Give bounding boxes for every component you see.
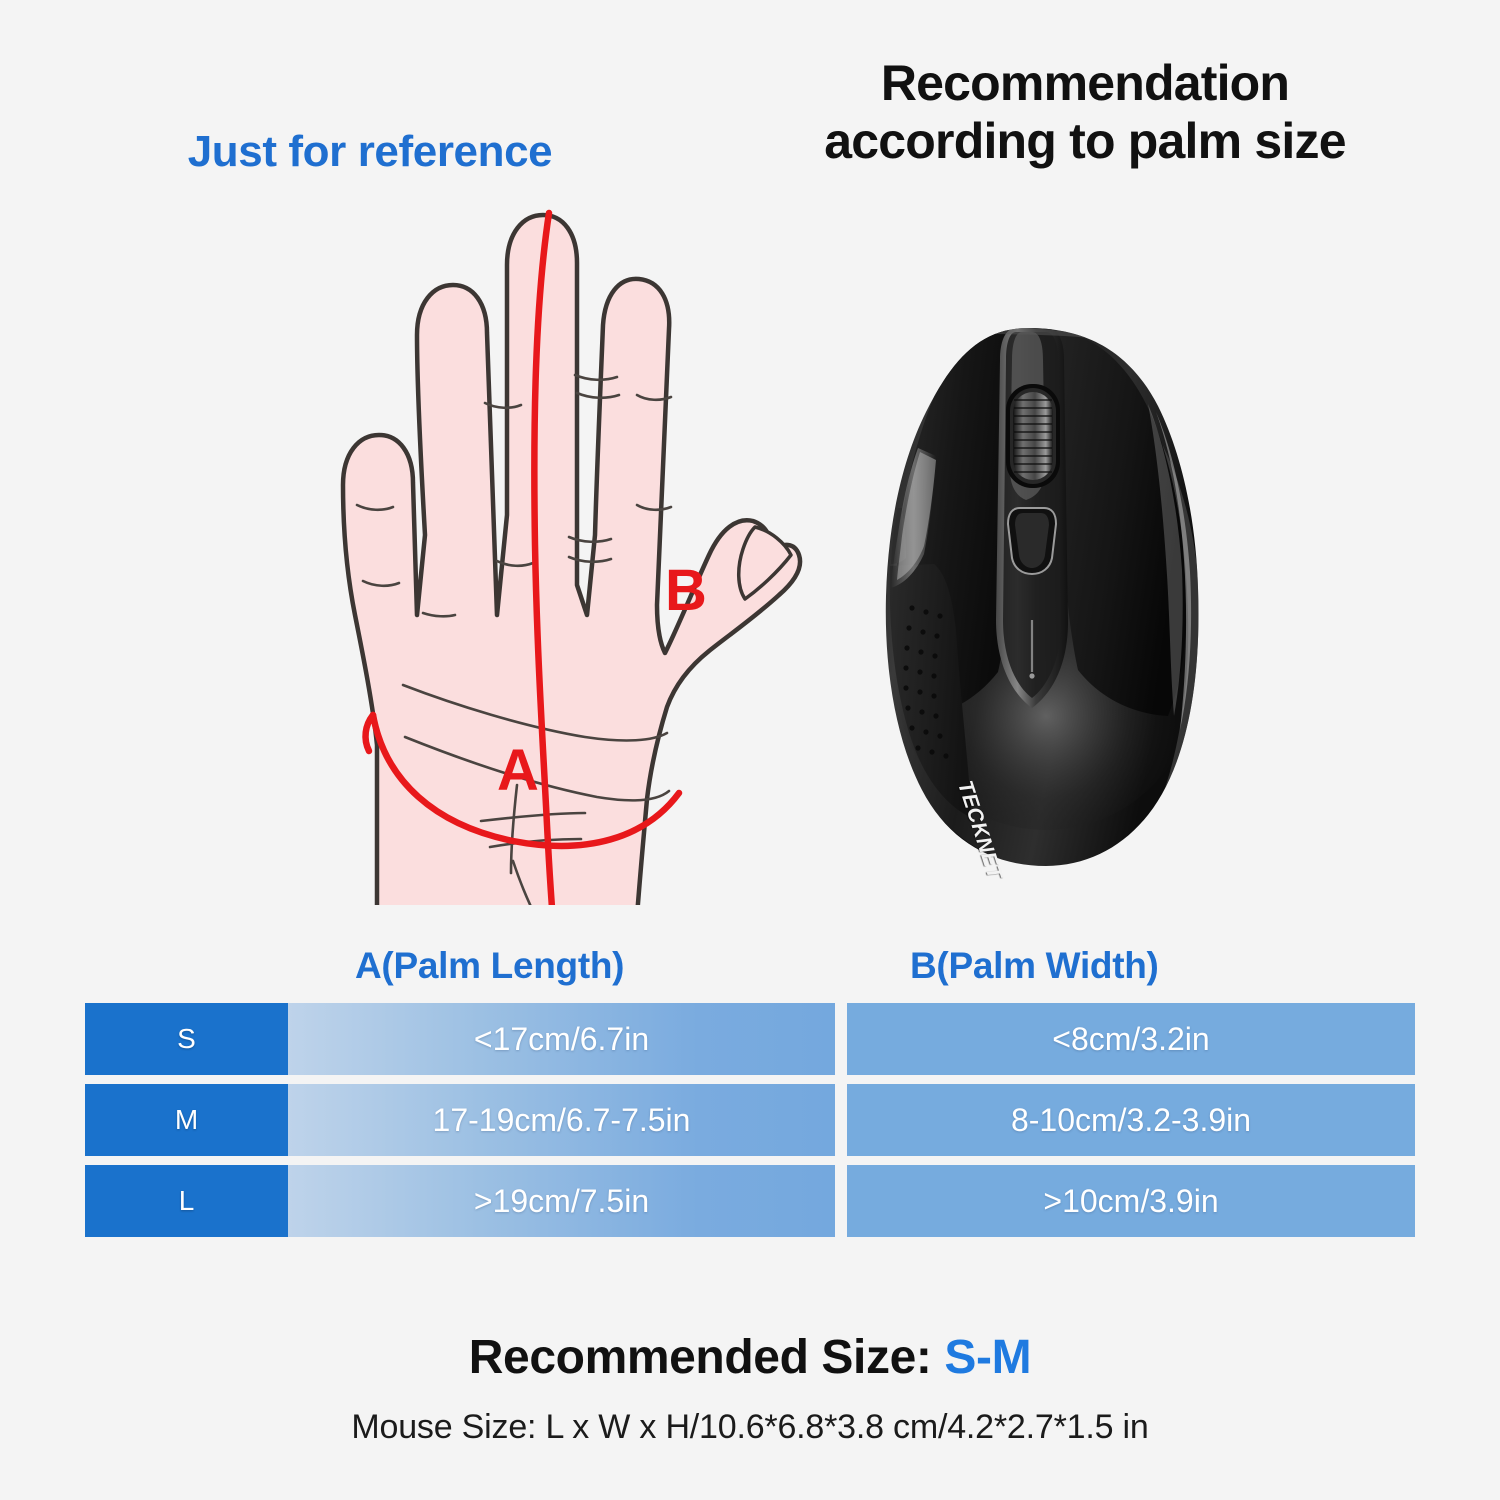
palm-length-value-l: >19cm/7.5in xyxy=(288,1165,835,1237)
column-header-palm-length: A(Palm Length) xyxy=(355,945,624,987)
table-row: L >19cm/7.5in >10cm/3.9in xyxy=(85,1165,1415,1237)
infographic-page: Just for reference Recommendation accord… xyxy=(0,0,1500,1500)
recommended-size-label: Recommended Size: xyxy=(469,1331,945,1384)
just-for-reference-caption: Just for reference xyxy=(110,128,630,176)
label-a: A xyxy=(497,742,539,800)
size-label-s: S xyxy=(85,1003,288,1075)
label-b: B xyxy=(665,562,707,620)
page-title-line1: Recommendation xyxy=(881,55,1289,111)
recommended-size-line: Recommended Size: S-M xyxy=(0,1330,1500,1385)
palm-length-value-s: <17cm/6.7in xyxy=(288,1003,835,1075)
size-label-m: M xyxy=(85,1084,288,1156)
page-title-line2: according to palm size xyxy=(700,112,1470,170)
palm-width-value-s: <8cm/3.2in xyxy=(847,1003,1415,1075)
palm-width-value-l: >10cm/3.9in xyxy=(847,1165,1415,1237)
size-table: A(Palm Length) B(Palm Width) S <17cm/6.7… xyxy=(85,945,1415,1246)
palm-length-value-m: 17-19cm/6.7-7.5in xyxy=(288,1084,835,1156)
measure-line-b-tail xyxy=(366,715,373,751)
hand-shape xyxy=(343,215,800,905)
table-column-headers: A(Palm Length) B(Palm Width) xyxy=(85,945,1415,1003)
palm-width-value-m: 8-10cm/3.2-3.9in xyxy=(847,1084,1415,1156)
column-header-palm-width: B(Palm Width) xyxy=(910,945,1159,987)
mouse-size-line: Mouse Size: L x W x H/10.6*6.8*3.8 cm/4.… xyxy=(0,1408,1500,1447)
table-row: M 17-19cm/6.7-7.5in 8-10cm/3.2-3.9in xyxy=(85,1084,1415,1156)
hand-illustration xyxy=(285,185,805,905)
recommended-size-value: S-M xyxy=(944,1331,1031,1384)
table-row: S <17cm/6.7in <8cm/3.2in xyxy=(85,1003,1415,1075)
size-label-l: L xyxy=(85,1165,288,1237)
mouse-illustration xyxy=(860,320,1240,890)
mouse-body xyxy=(886,328,1200,872)
page-title: Recommendation according to palm size xyxy=(700,54,1470,170)
